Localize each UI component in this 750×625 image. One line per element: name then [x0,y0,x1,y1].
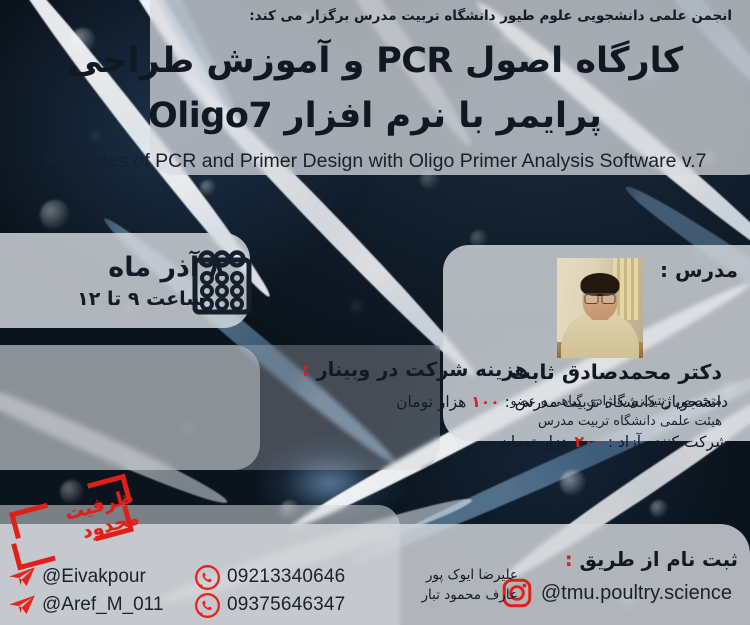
contact-list: @Eivakpour 09213340646 @Aref_M_011 [8,563,345,619]
header-panel [150,0,750,175]
telegram-handle[interactable]: @Eivakpour [42,566,188,588]
register-label-text: ثبت نام از طریق [579,548,738,571]
fee-students-label: دانشجویان دانشگاه تربیت مدرس : [500,393,728,411]
register-label-separator: : [565,548,580,571]
instagram-handle[interactable]: @tmu.poultry.science [541,582,732,605]
fee-public-unit: هزار تومان [499,433,574,451]
instructor-label: مدرس : [660,258,738,282]
page-title-line1: کارگاه اصول PCR و آموزش طراحی [20,39,730,84]
fee-students-amount: ۱۰۰ [471,393,499,411]
instagram-row[interactable]: @tmu.poultry.science [502,578,732,608]
event-date: ۸ آذر ماه [108,252,225,283]
fee-panel [0,345,260,470]
bokeh-dot [200,180,216,196]
poster-canvas: انجمن علمی دانشجویی علوم طیور دانشگاه تر… [0,0,750,625]
fee-public-amount: ۲۰۰ [575,433,603,451]
page-title-line2: پرایمر با نرم افزار Oligo7 [20,94,730,139]
organizer-names: علیرضا ایوک پور عارف محمود تبار [422,566,518,605]
fee-title-separator: : [302,358,317,381]
organizer-name-2: عارف محمود تبار [422,586,518,606]
bokeh-dot [650,500,668,518]
instructor-role-line2: هیئت علمی دانشگاه تربیت مدرس [538,414,722,429]
register-label: ثبت نام از طریق : [565,548,738,571]
fee-row-public: شرکت کننده آزاد : ۲۰۰ هزار تومان [499,433,728,451]
telegram-icon[interactable] [8,594,36,616]
contact-row[interactable]: @Eivakpour 09213340646 [8,563,345,591]
fee-row-students: دانشجویان دانشگاه تربیت مدرس : ۱۰۰ هزار … [396,393,728,411]
instructor-avatar [557,258,643,358]
event-time: ساعت ۹ تا ۱۲ [77,288,205,310]
whatsapp-phone[interactable]: 09213340646 [227,566,345,588]
telegram-icon[interactable] [8,566,36,588]
bokeh-dot [40,200,70,230]
fee-public-label: شرکت کننده آزاد : [603,433,728,451]
contact-row[interactable]: @Aref_M_011 09375646347 [8,591,345,619]
fee-title-text: هزینه شرکت در وبینار [316,358,528,381]
whatsapp-phone[interactable]: 09375646347 [227,594,345,616]
subtitle-english: Principles of PCR and Primer Design with… [0,150,750,173]
organizer-kicker: انجمن علمی دانشجویی علوم طیور دانشگاه تر… [249,8,732,24]
fee-students-unit: هزار تومان [396,393,471,411]
bokeh-dot [560,470,586,496]
whatsapp-icon[interactable] [194,564,221,591]
bokeh-dot [350,300,364,314]
fee-section-title: هزینه شرکت در وبینار : [302,358,528,381]
instructor-name: دکتر محمدصادق ثابت [510,360,722,384]
telegram-handle[interactable]: @Aref_M_011 [42,594,188,616]
whatsapp-icon[interactable] [194,592,221,619]
organizer-name-1: علیرضا ایوک پور [422,566,518,586]
